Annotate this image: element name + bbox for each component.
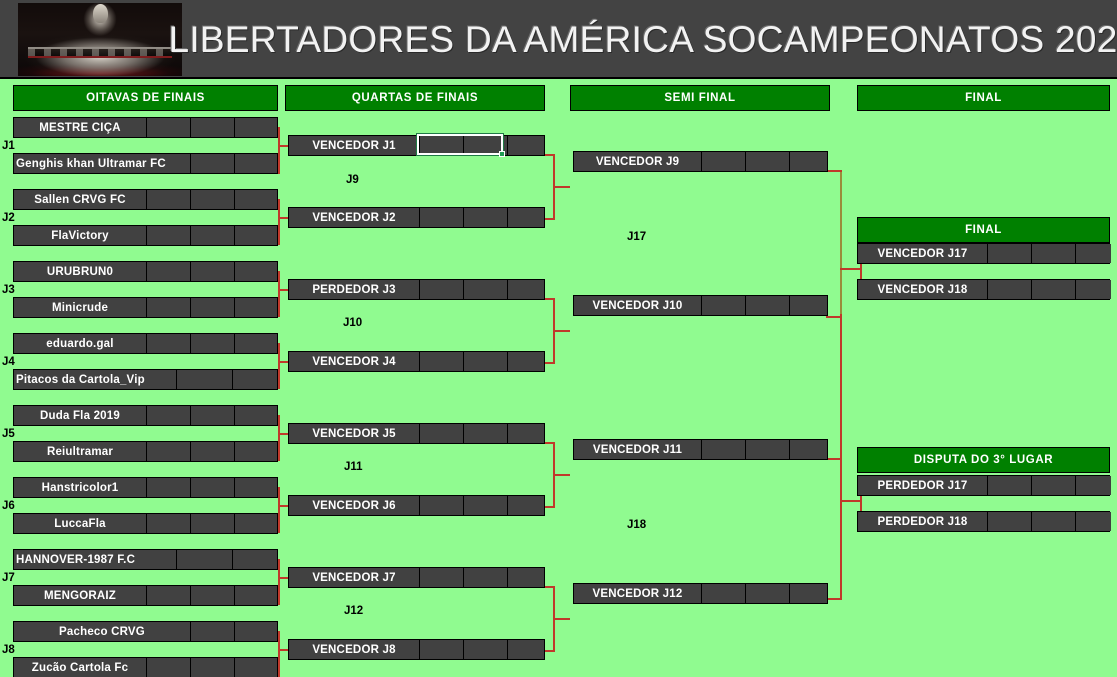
match-row[interactable]: VENCEDOR J17 [857,243,1110,264]
connector-j1-vertical [278,127,280,174]
score-cell[interactable] [702,440,746,459]
score-cell[interactable] [464,424,508,443]
score-cell[interactable] [191,226,235,245]
team-name[interactable]: VENCEDOR J17 [858,244,988,263]
team-name[interactable]: Duda Fla 2019 [14,406,147,425]
match-code-label: J9 [346,174,359,186]
match-row[interactable]: VENCEDOR J12 [573,583,828,604]
score-cell[interactable] [191,514,235,533]
team-name[interactable]: VENCEDOR J4 [289,352,420,371]
connector-j5-out [278,433,288,435]
score-cell[interactable] [420,208,464,227]
connector-j10-out [553,330,570,332]
team-name[interactable]: VENCEDOR J12 [574,584,702,603]
connector-j6-vertical [278,487,280,533]
score-cell[interactable] [508,352,544,371]
score-cell[interactable] [790,152,827,171]
connector-third-in [840,500,862,502]
match-code-label: J10 [343,317,362,329]
score-cell[interactable] [988,244,1032,263]
score-cell[interactable] [1076,476,1111,495]
connector-j18-bottom [826,598,842,600]
score-cell[interactable] [147,442,191,461]
score-cell[interactable] [508,568,544,587]
team-name[interactable]: Hanstricolor1 [14,478,147,497]
score-cell[interactable] [235,334,277,353]
connector-j9-out [553,186,570,188]
connector-j12-bottom [545,650,555,652]
trophy-logo-image [18,3,182,76]
round-header-final: FINAL [857,85,1110,111]
connector-j7-vertical [278,559,280,605]
team-name[interactable]: Genghis khan Ultramar FC [14,154,191,173]
score-cell[interactable] [464,280,508,299]
score-cell[interactable] [508,136,544,155]
team-name[interactable]: PERDEDOR J3 [289,280,420,299]
round-header-quartas: QUARTAS DE FINAIS [285,85,545,111]
score-cell[interactable] [1076,244,1111,263]
score-cell[interactable] [235,622,277,641]
match-code-label: J11 [344,461,363,473]
match-row[interactable]: VENCEDOR J18 [857,279,1110,300]
connector-j11-top [545,442,555,444]
score-cell[interactable] [191,622,235,641]
score-cell[interactable] [702,296,746,315]
connector-j8-out [278,649,288,651]
score-cell[interactable] [1032,512,1076,531]
match-code-label: J17 [627,231,646,243]
score-cell[interactable] [191,190,235,209]
connector-j3-out [278,289,288,291]
match-row[interactable]: Sallen CRVG FC [13,189,278,210]
match-row[interactable]: MESTRE CIÇA [13,117,278,138]
score-cell[interactable] [235,262,277,281]
match-code-label: J1 [2,140,15,152]
score-cell[interactable] [508,208,544,227]
team-name[interactable]: VENCEDOR J2 [289,208,420,227]
score-cell[interactable] [746,584,790,603]
match-row[interactable]: PERDEDOR J18 [857,511,1110,532]
score-cell[interactable] [191,262,235,281]
connector-j18-spine [840,314,842,600]
score-cell[interactable] [235,442,277,461]
score-cell[interactable] [988,476,1032,495]
match-code-label: J18 [627,519,646,531]
score-cell[interactable] [191,586,235,605]
score-cell[interactable] [1032,244,1076,263]
score-cell[interactable] [702,584,746,603]
team-name[interactable]: Minicrude [14,298,147,317]
connector-j11-bottom [545,506,555,508]
score-cell[interactable] [464,568,508,587]
score-cell[interactable] [420,136,464,155]
connector-j2-vertical [278,199,280,245]
match-row[interactable]: VENCEDOR J2 [288,207,545,228]
score-cell[interactable] [235,658,277,677]
score-cell[interactable] [147,514,191,533]
title-bar: LIBERTADORES DA AMÉRICA SOCAMPEONATOS 20… [0,0,1117,79]
score-cell[interactable] [147,478,191,497]
score-cell[interactable] [147,298,191,317]
score-cell[interactable] [235,478,277,497]
match-row[interactable]: Genghis khan Ultramar FC [13,153,278,174]
third-place-box-header: DISPUTA DO 3° LUGAR [857,447,1110,473]
score-cell[interactable] [790,440,827,459]
score-cell[interactable] [233,550,277,569]
match-row[interactable]: HANNOVER-1987 F.C [13,549,278,570]
final-box-header: FINAL [857,217,1110,243]
connector-j9-bottom [545,218,555,220]
connector-j8-vertical [278,631,280,677]
round-header-oitavas: OITAVAS DE FINAIS [13,85,278,111]
team-name[interactable]: HANNOVER-1987 F.C [14,550,177,569]
connector-j12-out [553,618,570,620]
team-name[interactable]: PERDEDOR J18 [858,512,988,531]
score-cell[interactable] [420,496,464,515]
connector-j3-vertical [278,271,280,317]
match-row[interactable]: VENCEDOR J8 [288,639,545,660]
connector-j5-vertical [278,415,280,461]
team-name[interactable]: URUBRUN0 [14,262,147,281]
team-name[interactable]: FlaVictory [14,226,147,245]
match-row[interactable]: LuccaFla [13,513,278,534]
score-cell[interactable] [420,280,464,299]
score-cell[interactable] [235,586,277,605]
score-cell[interactable] [147,190,191,209]
match-code-label: J7 [2,572,15,584]
match-row[interactable]: PERDEDOR J3 [288,279,545,300]
match-code-label: J12 [344,605,363,617]
score-cell[interactable] [191,658,235,677]
connector-j18-top [826,458,842,460]
score-cell[interactable] [1076,512,1111,531]
connector-j10-bottom [545,362,555,364]
score-cell[interactable] [147,334,191,353]
score-cell[interactable] [1032,280,1076,299]
team-name[interactable]: Sallen CRVG FC [14,190,147,209]
score-cell[interactable] [191,406,235,425]
team-name[interactable]: eduardo.gal [14,334,147,353]
connector-j4-vertical [278,343,280,389]
match-code-label: J3 [2,284,15,296]
score-cell[interactable] [746,152,790,171]
team-name[interactable]: VENCEDOR J7 [289,568,420,587]
match-row[interactable]: Minicrude [13,297,278,318]
score-cell[interactable] [147,262,191,281]
score-cell[interactable] [235,298,277,317]
match-code-label: J4 [2,356,15,368]
connector-j10-top [545,298,555,300]
selection-fill-handle[interactable] [499,151,505,157]
score-cell[interactable] [147,586,191,605]
match-row[interactable]: VENCEDOR J11 [573,439,828,460]
match-row[interactable]: Reiultramar [13,441,278,462]
score-cell[interactable] [702,152,746,171]
team-name[interactable]: VENCEDOR J10 [574,296,702,315]
score-cell[interactable] [988,280,1032,299]
score-cell[interactable] [235,118,277,137]
connector-final-in [840,268,862,270]
score-cell[interactable] [790,296,827,315]
score-cell[interactable] [464,208,508,227]
score-cell[interactable] [235,406,277,425]
score-cell[interactable] [147,406,191,425]
match-row[interactable]: MENGORAIZ [13,585,278,606]
score-cell[interactable] [420,352,464,371]
connector-j4-out [278,361,288,363]
score-cell[interactable] [191,442,235,461]
score-cell[interactable] [508,640,544,659]
match-code-label: J5 [2,428,15,440]
score-cell[interactable] [233,370,277,389]
score-cell[interactable] [147,658,191,677]
score-cell[interactable] [420,640,464,659]
score-cell[interactable] [235,154,277,173]
match-row[interactable]: Zucão Cartola Fc [13,657,278,677]
team-name[interactable]: PERDEDOR J17 [858,476,988,495]
score-cell[interactable] [464,640,508,659]
score-cell[interactable] [191,154,235,173]
connector-j11-out [553,474,570,476]
team-name[interactable]: VENCEDOR J6 [289,496,420,515]
team-name[interactable]: VENCEDOR J9 [574,152,702,171]
team-name[interactable]: VENCEDOR J5 [289,424,420,443]
score-cell[interactable] [177,550,233,569]
connector-j2-out [278,217,288,219]
score-cell[interactable] [235,514,277,533]
score-cell[interactable] [988,512,1032,531]
score-cell[interactable] [508,280,544,299]
team-name[interactable]: VENCEDOR J8 [289,640,420,659]
score-cell[interactable] [420,424,464,443]
connector-j9-top [545,154,555,156]
score-cell[interactable] [1076,280,1111,299]
score-cell[interactable] [147,226,191,245]
connector-j6-out [278,505,288,507]
team-name[interactable]: Reiultramar [14,442,147,461]
match-row[interactable]: VENCEDOR J5 [288,423,545,444]
team-name[interactable]: Pitacos da Cartola_Vip [14,370,177,389]
score-cell[interactable] [191,298,235,317]
match-code-label: J6 [2,500,15,512]
score-cell[interactable] [746,296,790,315]
trophy-figurine [93,4,108,23]
match-row[interactable]: PERDEDOR J17 [857,475,1110,496]
score-cell[interactable] [464,352,508,371]
connector-j1-out [278,145,288,147]
page-title: LIBERTADORES DA AMÉRICA SOCAMPEONATOS 20… [196,14,1111,66]
score-cell[interactable] [191,334,235,353]
match-row[interactable]: Pitacos da Cartola_Vip [13,369,278,390]
match-row[interactable]: Hanstricolor1 [13,477,278,498]
match-row[interactable]: Pacheco CRVG [13,621,278,642]
bracket-page: LIBERTADORES DA AMÉRICA SOCAMPEONATOS 20… [0,0,1117,677]
score-cell[interactable] [746,440,790,459]
match-row[interactable]: VENCEDOR J7 [288,567,545,588]
team-name[interactable]: VENCEDOR J1 [289,136,420,155]
team-name[interactable]: VENCEDOR J11 [574,440,702,459]
score-cell[interactable] [191,478,235,497]
match-row[interactable]: VENCEDOR J1 [288,135,545,156]
match-row[interactable]: FlaVictory [13,225,278,246]
score-cell[interactable] [147,118,191,137]
match-code-label: J2 [2,212,15,224]
team-name[interactable]: VENCEDOR J18 [858,280,988,299]
score-cell[interactable] [464,496,508,515]
score-cell[interactable] [235,190,277,209]
score-cell[interactable] [177,370,233,389]
match-row[interactable]: VENCEDOR J6 [288,495,545,516]
team-name[interactable]: LuccaFla [14,514,147,533]
team-name[interactable]: MESTRE CIÇA [14,118,147,137]
match-row[interactable]: eduardo.gal [13,333,278,354]
score-cell[interactable] [508,424,544,443]
score-cell[interactable] [790,584,827,603]
score-cell[interactable] [508,496,544,515]
score-cell[interactable] [420,568,464,587]
score-cell[interactable] [191,118,235,137]
connector-j7-out [278,577,288,579]
connector-j17-top [826,170,842,172]
match-row[interactable]: URUBRUN0 [13,261,278,282]
match-row[interactable]: VENCEDOR J10 [573,295,828,316]
team-name[interactable]: Pacheco CRVG [14,622,191,641]
connector-j12-top [545,586,555,588]
score-cell[interactable] [235,226,277,245]
match-code-label: J8 [2,644,15,656]
match-row[interactable]: VENCEDOR J4 [288,351,545,372]
round-header-semifinal: SEMI FINAL [570,85,830,111]
trophy-engraved-band [28,47,172,59]
match-row[interactable]: VENCEDOR J9 [573,151,828,172]
team-name[interactable]: Zucão Cartola Fc [14,658,147,677]
team-name[interactable]: MENGORAIZ [14,586,147,605]
score-cell[interactable] [1032,476,1076,495]
match-row[interactable]: Duda Fla 2019 [13,405,278,426]
connector-j17-spine [840,170,842,318]
